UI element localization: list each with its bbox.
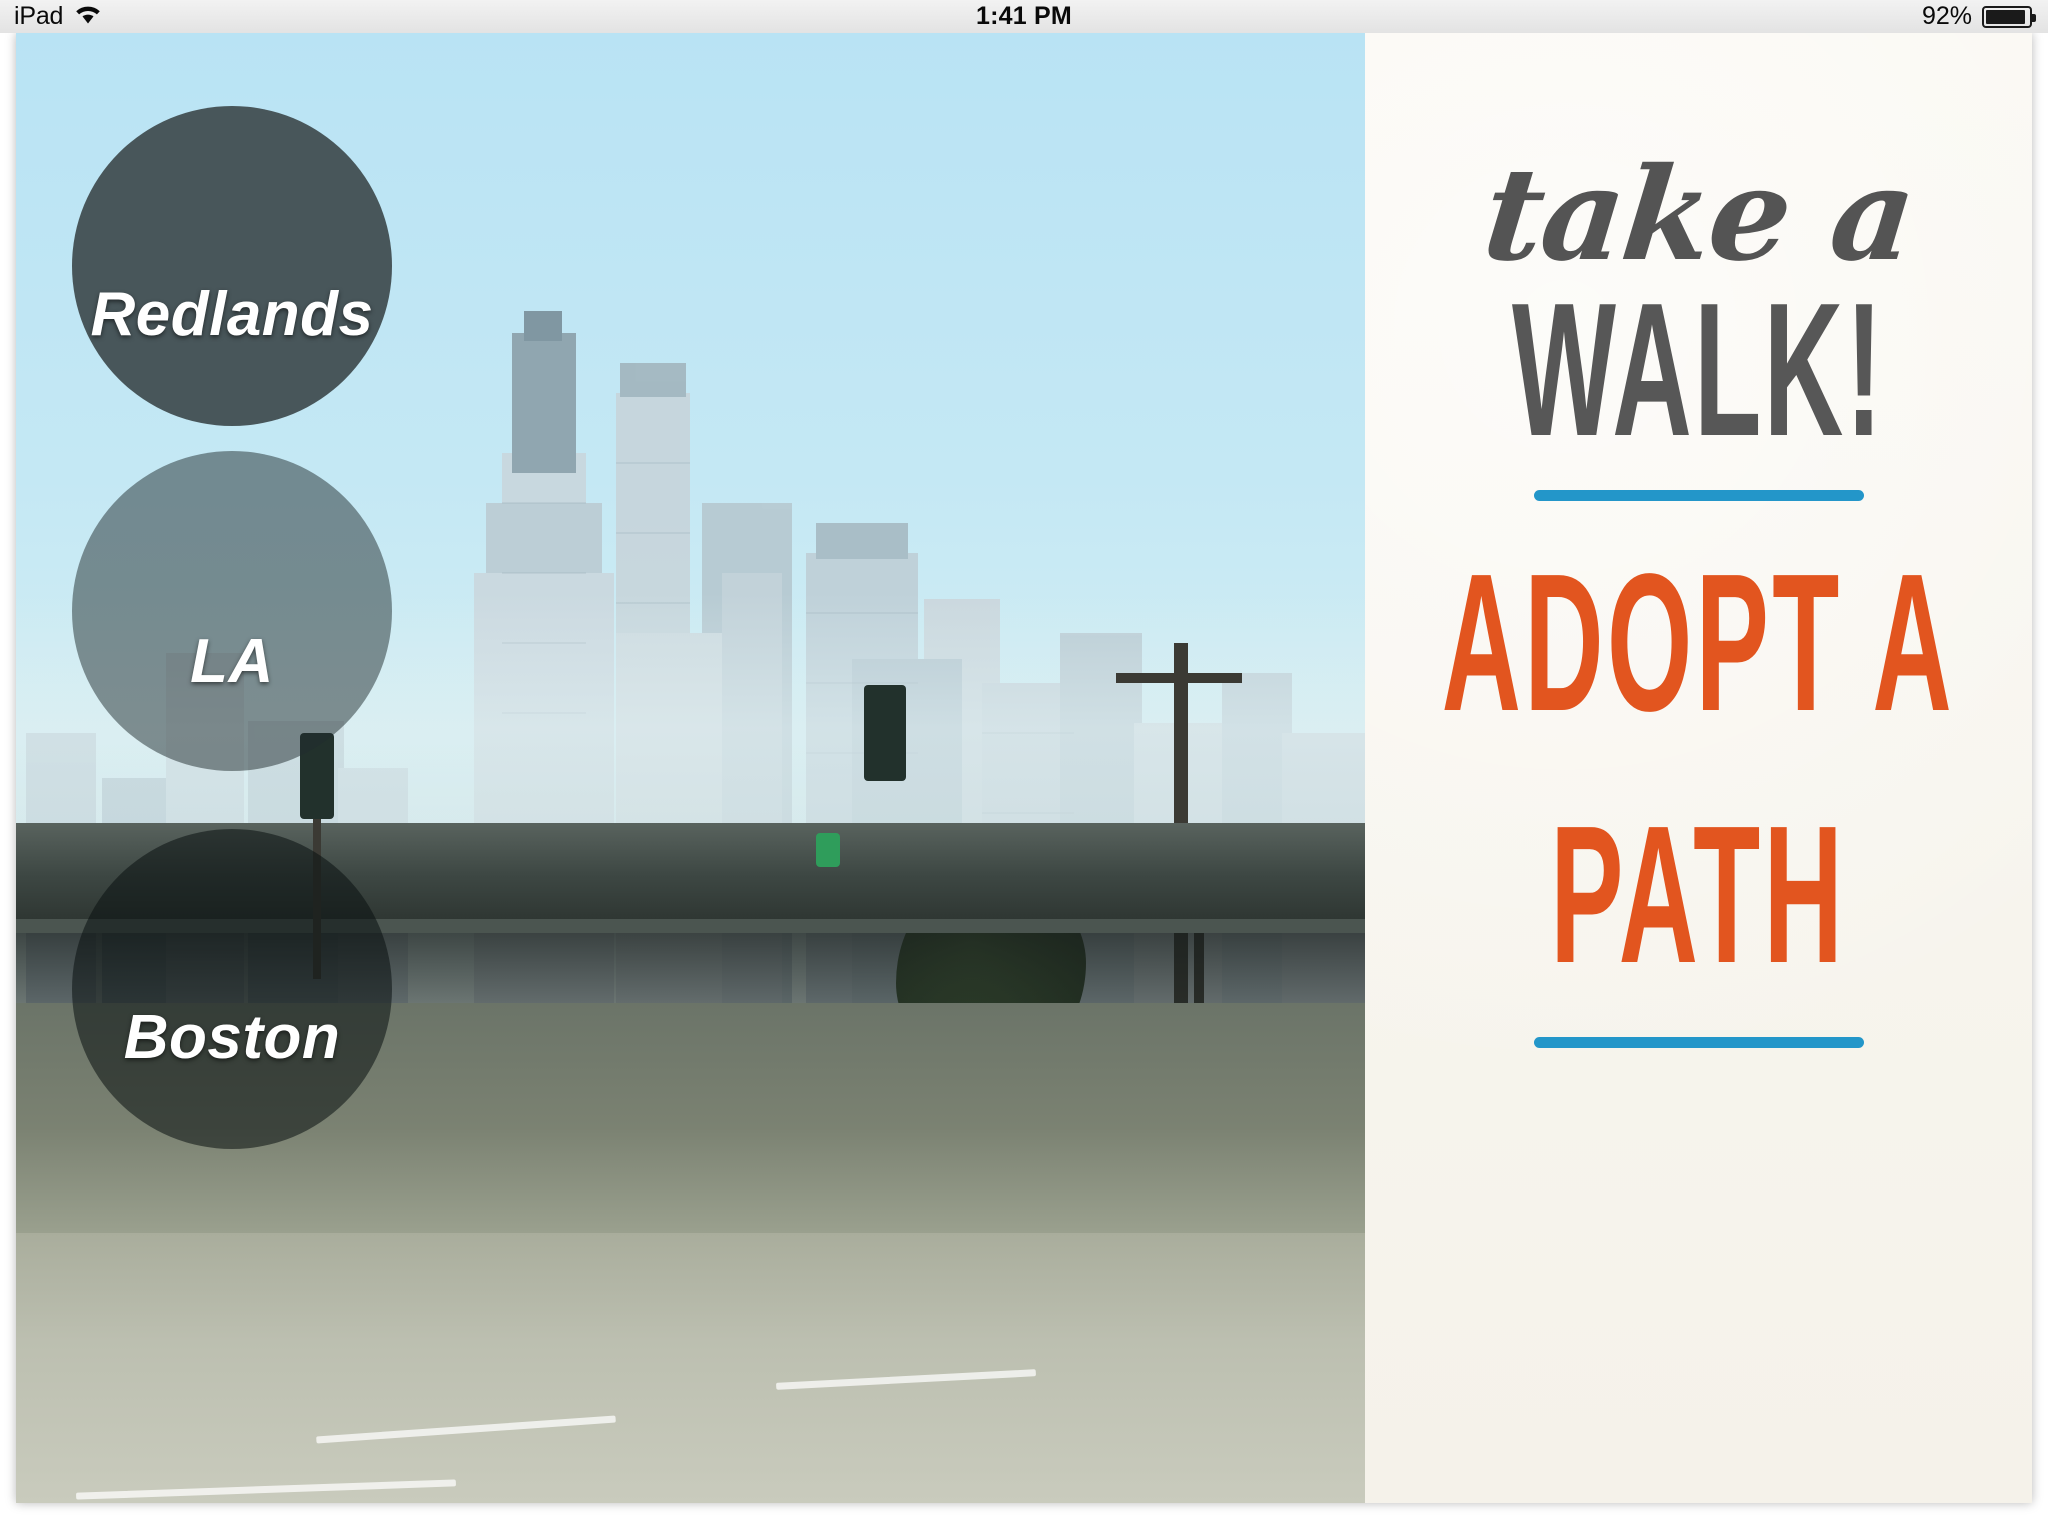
page-canvas: Redlands LA Boston take a WALK! ADOPT A … — [16, 33, 2032, 1503]
city-button-la[interactable]: LA — [72, 451, 392, 771]
status-bar-right: 92% — [1922, 2, 2032, 31]
poster-headline: WALK! — [1512, 283, 1885, 458]
ios-status-bar: iPad 1:41 PM 92% — [0, 0, 2048, 33]
skyline-photo-pane: Redlands LA Boston — [16, 33, 1365, 1503]
poster-subline-2: PATH — [1551, 797, 1847, 993]
traffic-signal-center — [864, 685, 906, 781]
battery-percent-label: 92% — [1922, 2, 1972, 31]
poster-script-line: take a — [1478, 151, 1919, 279]
utility-crossarm — [1116, 673, 1242, 683]
roadway — [16, 1233, 1365, 1503]
traffic-signal-green-light — [816, 833, 840, 867]
city-button-redlands[interactable]: Redlands — [72, 106, 392, 426]
battery-icon — [1982, 6, 2032, 28]
city-button-redlands-label: Redlands — [90, 279, 373, 350]
status-bar-clock: 1:41 PM — [0, 2, 2048, 31]
poster-subline-1: ADOPT A — [1442, 545, 1955, 741]
poster-pane: take a WALK! ADOPT A PATH — [1365, 33, 2032, 1503]
horizontal-rule-bottom-icon — [1534, 1037, 1864, 1048]
app-frame: Redlands LA Boston take a WALK! ADOPT A … — [0, 33, 2048, 1536]
city-button-boston-label: Boston — [124, 1002, 341, 1073]
city-button-boston[interactable]: Boston — [72, 829, 392, 1149]
city-button-la-label: LA — [190, 626, 274, 697]
horizontal-rule-top-icon — [1534, 490, 1864, 501]
poster-content: take a WALK! ADOPT A PATH — [1365, 151, 2032, 1048]
